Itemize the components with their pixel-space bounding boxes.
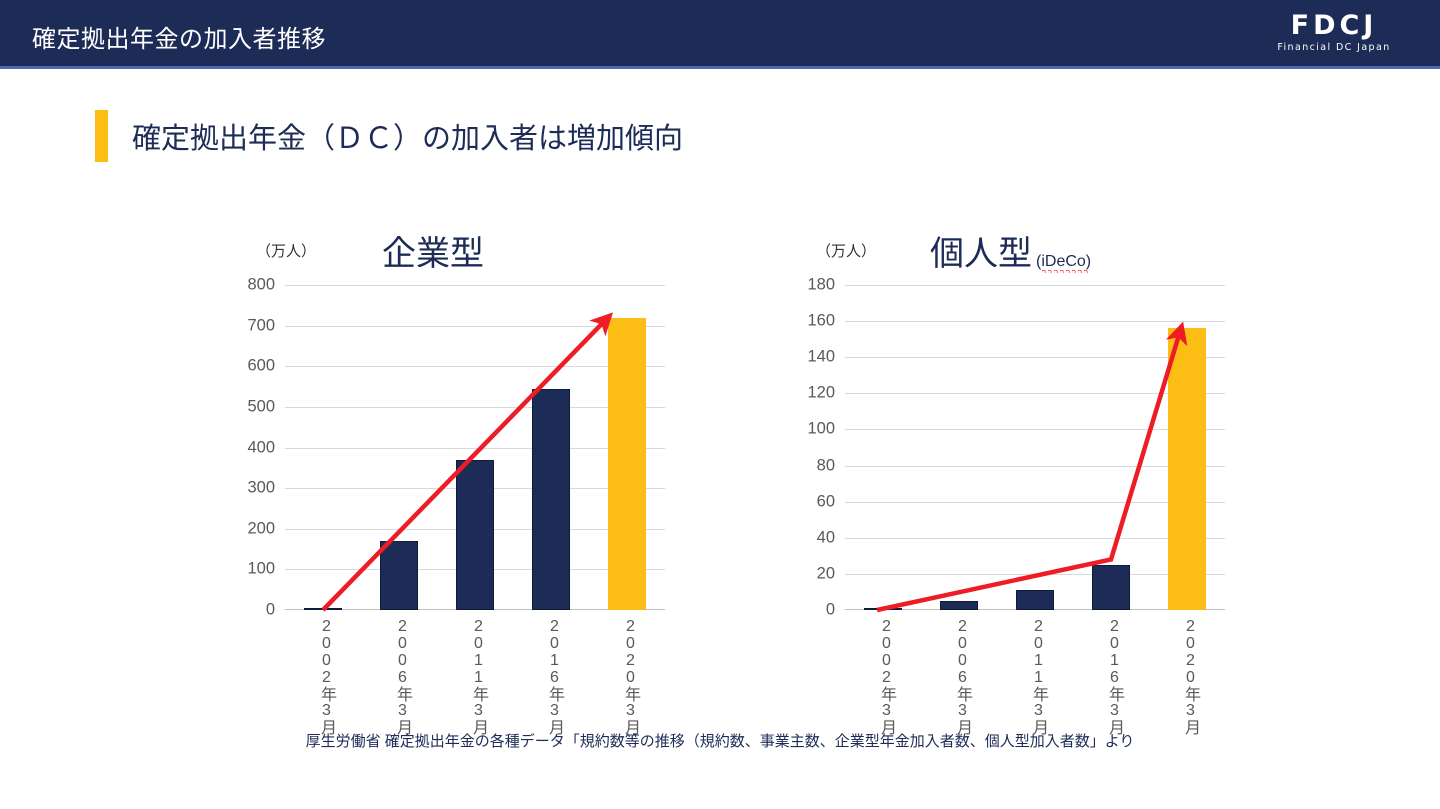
chart-title-main: 企業型 (382, 226, 484, 275)
chart-unit-label: （万人） (256, 240, 316, 261)
chart-individual: （万人） 個人型 (iDeCo) 18016014012010080604020… (790, 230, 1270, 730)
x-axis-tick-label: 2016年3月 (540, 618, 562, 735)
y-axis-tick-label: 40 (817, 528, 835, 547)
bar (940, 601, 978, 610)
chart-title-sub-wrap: (iDeCo) (1036, 253, 1091, 271)
chart-title: 企業型 (382, 226, 484, 275)
x-axis-tick-label: 2006年3月 (948, 618, 970, 735)
x-axis-tick-label: 2002年3月 (872, 618, 894, 735)
chart-title-sub: (iDeCo) (1036, 253, 1091, 270)
header-underline (0, 66, 1440, 69)
bar (304, 608, 342, 610)
x-axis-tick-label: 2011年3月 (464, 618, 486, 735)
page-title: 確定拠出年金の加入者推移 (32, 19, 326, 54)
gridline (285, 285, 665, 286)
chart-title-main: 個人型 (930, 226, 1032, 275)
y-axis-tick-label: 20 (817, 564, 835, 583)
chart-corporate: （万人） 企業型 80070060050040030020010002002年3… (230, 230, 710, 730)
bar (380, 541, 418, 610)
x-axis-tick-label: 2006年3月 (388, 618, 410, 735)
y-axis-tick-label: 500 (247, 397, 275, 416)
subtitle-accent-bar (95, 110, 108, 162)
subtitle-block: 確定拠出年金（ＤＣ）の加入者は増加傾向 (95, 110, 683, 162)
bar (1168, 328, 1206, 610)
bar (1016, 590, 1054, 610)
y-axis-tick-label: 180 (807, 276, 835, 295)
y-axis-tick-label: 160 (807, 312, 835, 331)
plot-area: 80070060050040030020010002002年3月2006年3月2… (285, 285, 665, 610)
logo-wordmark: FDCJ (1291, 12, 1378, 39)
y-axis-tick-label: 400 (247, 438, 275, 457)
x-axis-tick-label: 2011年3月 (1024, 618, 1046, 735)
y-axis-tick-label: 0 (826, 601, 835, 620)
fdcj-logo: FDCJ Financial DC Japan (1258, 8, 1410, 56)
y-axis-tick-label: 800 (247, 276, 275, 295)
x-axis-tick-label: 2020年3月 (616, 618, 638, 735)
gridline (845, 321, 1225, 322)
bar (1092, 565, 1130, 610)
y-axis-tick-label: 300 (247, 479, 275, 498)
charts-container: （万人） 企業型 80070060050040030020010002002年3… (0, 230, 1440, 730)
source-footnote: 厚生労働省 確定拠出年金の各種データ「規約数等の推移（規約数、事業主数、企業型年… (0, 730, 1440, 751)
plot-area: 1801601401201008060402002002年3月2006年3月20… (845, 285, 1225, 610)
y-axis-tick-label: 100 (807, 420, 835, 439)
bar (456, 460, 494, 610)
chart-title: 個人型 (iDeCo) (930, 226, 1091, 275)
y-axis-tick-label: 100 (247, 560, 275, 579)
y-axis-tick-label: 600 (247, 357, 275, 376)
y-axis-tick-label: 140 (807, 348, 835, 367)
y-axis-tick-label: 120 (807, 384, 835, 403)
y-axis-tick-label: 60 (817, 492, 835, 511)
x-axis-tick-label: 2020年3月 (1176, 618, 1198, 735)
y-axis-tick-label: 0 (266, 601, 275, 620)
bar (608, 318, 646, 611)
spellcheck-squiggle-icon (1042, 269, 1088, 273)
x-axis-tick-label: 2016年3月 (1100, 618, 1122, 735)
gridline (845, 285, 1225, 286)
chart-unit-label: （万人） (816, 240, 876, 261)
logo-tagline: Financial DC Japan (1277, 42, 1390, 53)
y-axis-tick-label: 700 (247, 316, 275, 335)
x-axis-tick-label: 2002年3月 (312, 618, 334, 735)
bar (532, 389, 570, 610)
y-axis-tick-label: 80 (817, 456, 835, 475)
bar (864, 608, 902, 610)
y-axis-tick-label: 200 (247, 519, 275, 538)
subtitle-text: 確定拠出年金（ＤＣ）の加入者は増加傾向 (132, 115, 683, 157)
